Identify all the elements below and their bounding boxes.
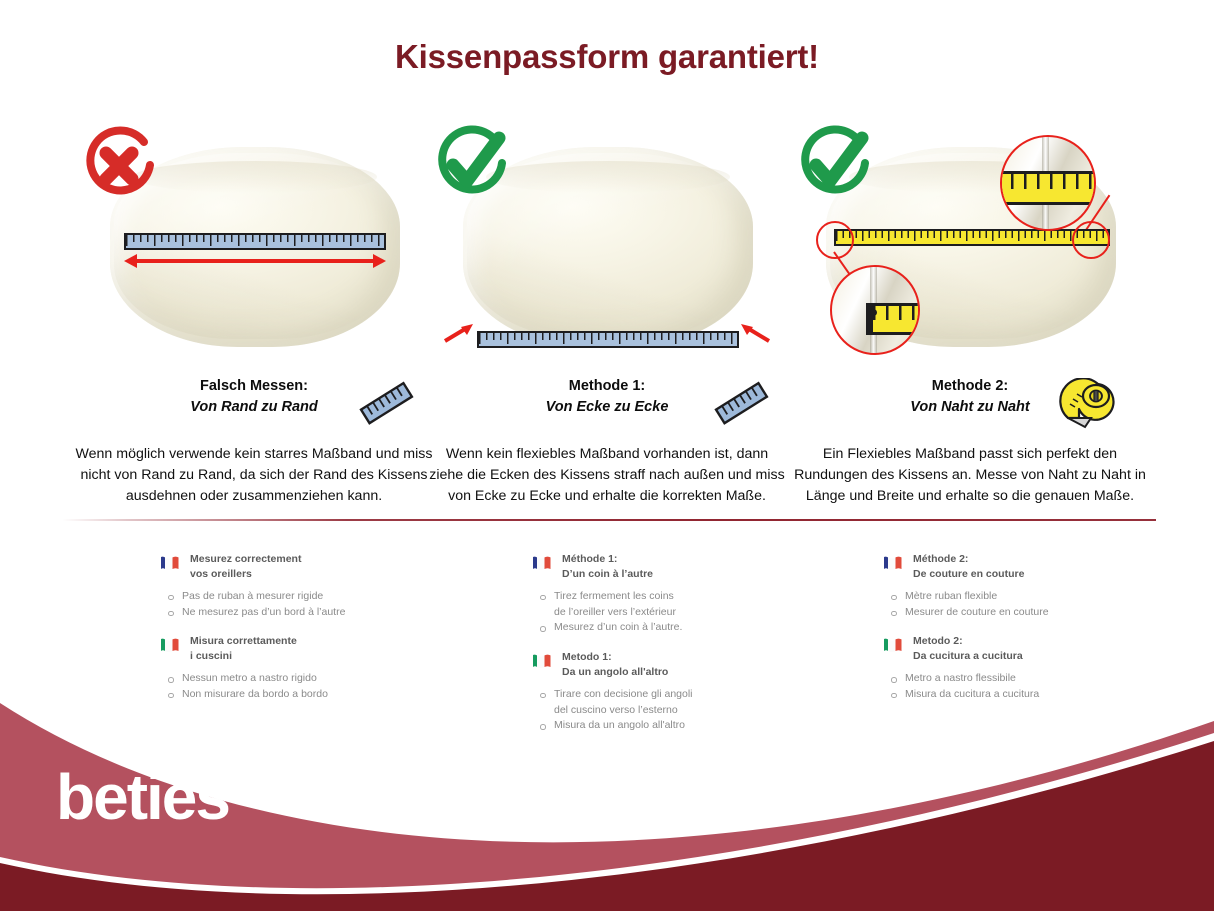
- multilingual-block: Méthode 2: De couture en couture Mètre r…: [883, 552, 1183, 620]
- page-title: Kissenpassform garantiert!: [0, 38, 1214, 76]
- illustration-methode-1: [427, 125, 787, 370]
- edge-to-edge-arrow: [124, 253, 386, 269]
- multilingual-heading: Mesurez correctement vos oreillers: [160, 552, 460, 582]
- brand-logo: beties: [56, 765, 229, 829]
- multilingual-subtitle: Da un angolo all'altro: [562, 665, 668, 680]
- multilingual-heading-lines: Metodo 2: Da cucitura a cucitura: [913, 634, 1023, 664]
- blue-ruler-icon: [711, 378, 773, 430]
- tape-major-ticks: [836, 231, 1108, 244]
- multilingual-title: Mesurez correctement: [190, 552, 301, 567]
- check-circle-icon: [429, 125, 515, 211]
- list-item: Mètre ruban flexible: [883, 589, 1183, 605]
- multilingual-title: Méthode 2:: [913, 552, 1024, 567]
- multilingual-heading-lines: Metodo 1: Da un angolo all'altro: [562, 650, 668, 680]
- tape-end-hole-icon: [870, 309, 877, 316]
- multilingual-subtitle: De couture en couture: [913, 567, 1024, 582]
- cross-circle-icon: [76, 125, 162, 211]
- multilingual-list: Mètre ruban flexible Mesurer de couture …: [883, 589, 1183, 621]
- tape-end-zoom-callout: [830, 265, 920, 355]
- multilingual-subtitle: D’un coin à l’autre: [562, 567, 653, 582]
- check-circle-icon: [792, 125, 878, 211]
- method-body-text: Wenn kein flexiebles Maßband vorhanden i…: [427, 444, 787, 507]
- multilingual-heading-lines: Misura correttamente i cuscini: [190, 634, 297, 664]
- illustration-methode-2: [790, 125, 1150, 370]
- method-column-falsch-messen: Falsch Messen: Von Rand zu Rand: [74, 125, 434, 507]
- list-item: Tirez fermement les coins: [532, 589, 832, 605]
- method-column-methode-1: Methode 1: Von Ecke zu Ecke Wenn: [427, 125, 787, 507]
- multilingual-title: Metodo 1:: [562, 650, 668, 665]
- ruler-major-ticks: [126, 235, 384, 248]
- french-flag-icon: [160, 555, 181, 571]
- zoomed-tape: [1000, 171, 1096, 205]
- multilingual-heading-lines: Méthode 1: D’un coin à l’autre: [562, 552, 653, 582]
- corner-arrow-right-icon: [741, 321, 771, 343]
- method-column-methode-2: Methode 2: Von Naht zu Naht Ein Flexiebl…: [790, 125, 1150, 507]
- italian-flag-icon: [160, 637, 181, 653]
- callout-marker-left: [816, 221, 854, 259]
- multilingual-heading: Misura correttamente i cuscini: [160, 634, 460, 664]
- flexible-tape-measure-on-pillow: [834, 229, 1110, 246]
- multilingual-title: Méthode 1:: [562, 552, 653, 567]
- multilingual-block: Mesurez correctement vos oreillers Pas d…: [160, 552, 460, 620]
- multilingual-subtitle: i cuscini: [190, 649, 297, 664]
- method-body-text: Ein Flexiebles Maßband passt sich perfek…: [790, 444, 1150, 507]
- heading-block-falsch-messen: Falsch Messen: Von Rand zu Rand: [74, 376, 434, 438]
- multilingual-heading-lines: Mesurez correctement vos oreillers: [190, 552, 301, 582]
- multilingual-heading: Méthode 2: De couture en couture: [883, 552, 1183, 582]
- list-item: Pas de ruban à mesurer rigide: [160, 589, 460, 605]
- list-item: Ne mesurez pas d’un bord à l’autre: [160, 605, 460, 621]
- arrow-shaft: [135, 259, 375, 263]
- callout-marker-right: [1072, 221, 1110, 259]
- rigid-ruler-on-pillow: [124, 233, 386, 250]
- multilingual-title: Metodo 2:: [913, 634, 1023, 649]
- heading-block-methode-2: Methode 2: Von Naht zu Naht: [790, 376, 1150, 438]
- blue-ruler-icon: [356, 378, 418, 430]
- infographic-page: Kissenpassform garantiert! Falsch Messen…: [0, 0, 1214, 911]
- arrow-head-right-icon: [373, 254, 386, 268]
- multilingual-block: Méthode 1: D’un coin à l’autre Tirez fer…: [532, 552, 832, 636]
- multilingual-subtitle: vos oreillers: [190, 567, 301, 582]
- zoomed-tape-ticks: [873, 306, 920, 332]
- heading-block-methode-1: Methode 1: Von Ecke zu Ecke: [427, 376, 787, 438]
- french-flag-icon: [883, 555, 904, 571]
- zoomed-tape-ticks: [1000, 174, 1096, 202]
- french-flag-icon: [532, 555, 553, 571]
- rigid-ruler-below-pillow: [477, 331, 739, 348]
- yellow-tape-measure-icon: [1058, 378, 1120, 430]
- footer-banner: beties: [0, 681, 1214, 911]
- list-item: Mesurez d’un coin à l’autre.: [532, 620, 832, 636]
- ruler-major-ticks: [479, 333, 737, 346]
- section-divider: [62, 519, 1156, 521]
- multilingual-heading: Metodo 2: Da cucitura a cucitura: [883, 634, 1183, 664]
- multilingual-heading: Metodo 1: Da un angolo all'altro: [532, 650, 832, 680]
- multilingual-list: Tirez fermement les coins de l’oreiller …: [532, 589, 832, 636]
- multilingual-subtitle: Da cucitura a cucitura: [913, 649, 1023, 664]
- multilingual-list: Pas de ruban à mesurer rigide Ne mesurez…: [160, 589, 460, 621]
- list-item-continuation: de l’oreiller vers l’extérieur: [532, 605, 832, 621]
- method-body-text: Wenn möglich verwende kein starres Maßba…: [74, 444, 434, 507]
- italian-flag-icon: [883, 637, 904, 653]
- corner-arrow-left-icon: [443, 321, 473, 343]
- zoomed-tape: [866, 303, 920, 335]
- multilingual-title: Misura correttamente: [190, 634, 297, 649]
- multilingual-heading-lines: Méthode 2: De couture en couture: [913, 552, 1024, 582]
- multilingual-heading: Méthode 1: D’un coin à l’autre: [532, 552, 832, 582]
- italian-flag-icon: [532, 653, 553, 669]
- seam-zoom-callout: [1000, 135, 1096, 231]
- list-item: Mesurer de couture en couture: [883, 605, 1183, 621]
- illustration-falsch-messen: [74, 125, 434, 370]
